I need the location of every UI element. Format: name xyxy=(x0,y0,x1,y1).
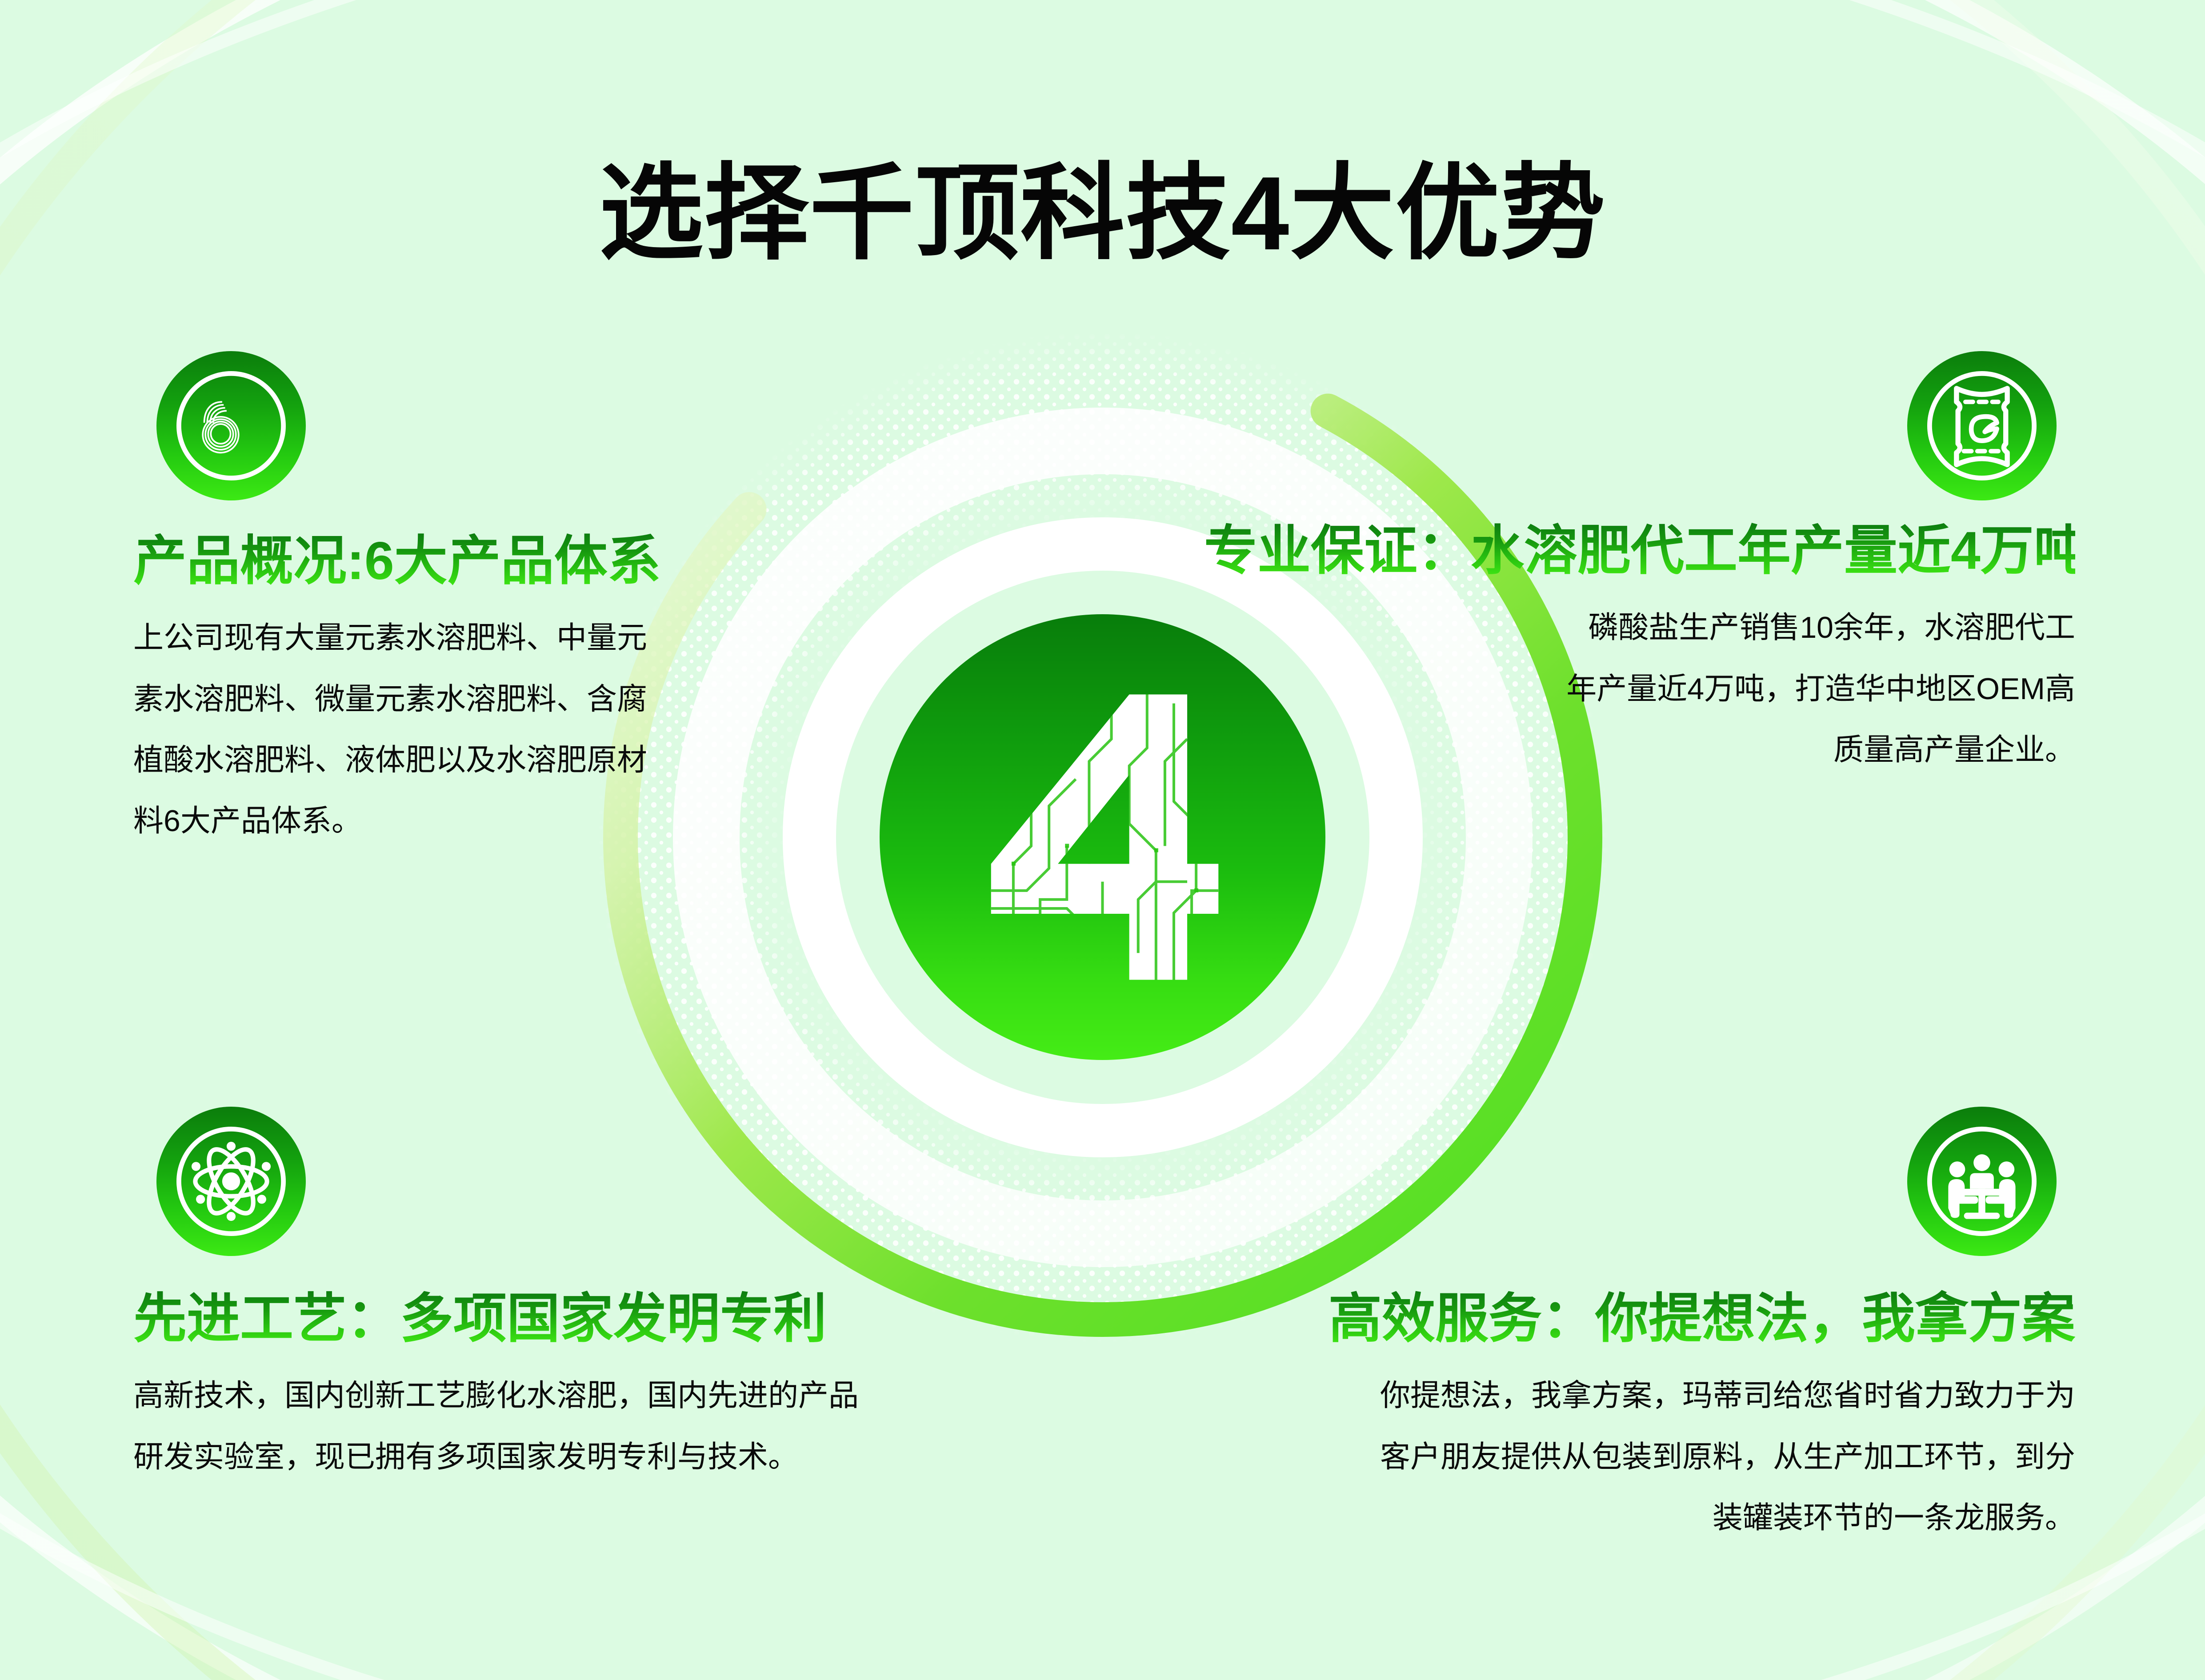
advantage-heading: 高效服务：你提想法，我拿方案 xyxy=(1293,1289,2075,1348)
target-six-badge: 6 xyxy=(156,351,306,500)
atom-icon xyxy=(156,1107,306,1256)
fertilizer-bag-badge xyxy=(1907,351,2057,500)
atom-badge xyxy=(156,1107,306,1256)
advantage-panel-product-overview: 产品概况:6大产品体系 上公司现有大量元素水溶肥料、中量元素水溶肥料、微量元素水… xyxy=(133,531,693,852)
advantage-panel-professional-guarantee: 专业保证：水溶肥代工年产量近4万吨 磷酸盐生产销售10余年，水溶肥代工年产量近4… xyxy=(1204,521,2075,780)
advantage-panel-efficient-service: 高效服务：你提想法，我拿方案 你提想法，我拿方案，玛蒂司给您省时省力致力于为客户… xyxy=(1293,1289,2075,1548)
target-six-icon: 6 xyxy=(156,351,306,500)
meeting-team-icon xyxy=(1907,1107,2057,1256)
infographic-canvas: 选择千顶科技4大优势 xyxy=(0,0,2205,1680)
advantage-body: 磷酸盐生产销售10余年，水溶肥代工年产量近4万吨，打造华中地区OEM高质量高产量… xyxy=(1564,597,2075,780)
advantage-panel-advanced-process: 先进工艺：多项国家发明专利 高新技术，国内创新工艺膨化水溶肥，国内先进的产品研发… xyxy=(133,1289,889,1488)
center-number-glyph xyxy=(991,695,1219,980)
advantage-body: 高新技术，国内创新工艺膨化水溶肥，国内先进的产品研发实验室，现已拥有多项国家发明… xyxy=(133,1365,880,1488)
fertilizer-bag-icon xyxy=(1907,351,2057,500)
advantage-body: 你提想法，我拿方案，玛蒂司给您省时省力致力于为客户朋友提供从包装到原料，从生产加… xyxy=(1364,1365,2075,1548)
advantage-heading: 专业保证：水溶肥代工年产量近4万吨 xyxy=(1204,521,2075,580)
advantage-body: 上公司现有大量元素水溶肥料、中量元素水溶肥料、微量元素水溶肥料、含腐植酸水溶肥料… xyxy=(133,608,673,852)
page-title: 选择千顶科技4大优势 xyxy=(0,159,2205,268)
advantage-heading: 产品概况:6大产品体系 xyxy=(133,531,693,591)
meeting-team-badge xyxy=(1907,1107,2057,1256)
advantage-heading: 先进工艺：多项国家发明专利 xyxy=(133,1289,889,1348)
